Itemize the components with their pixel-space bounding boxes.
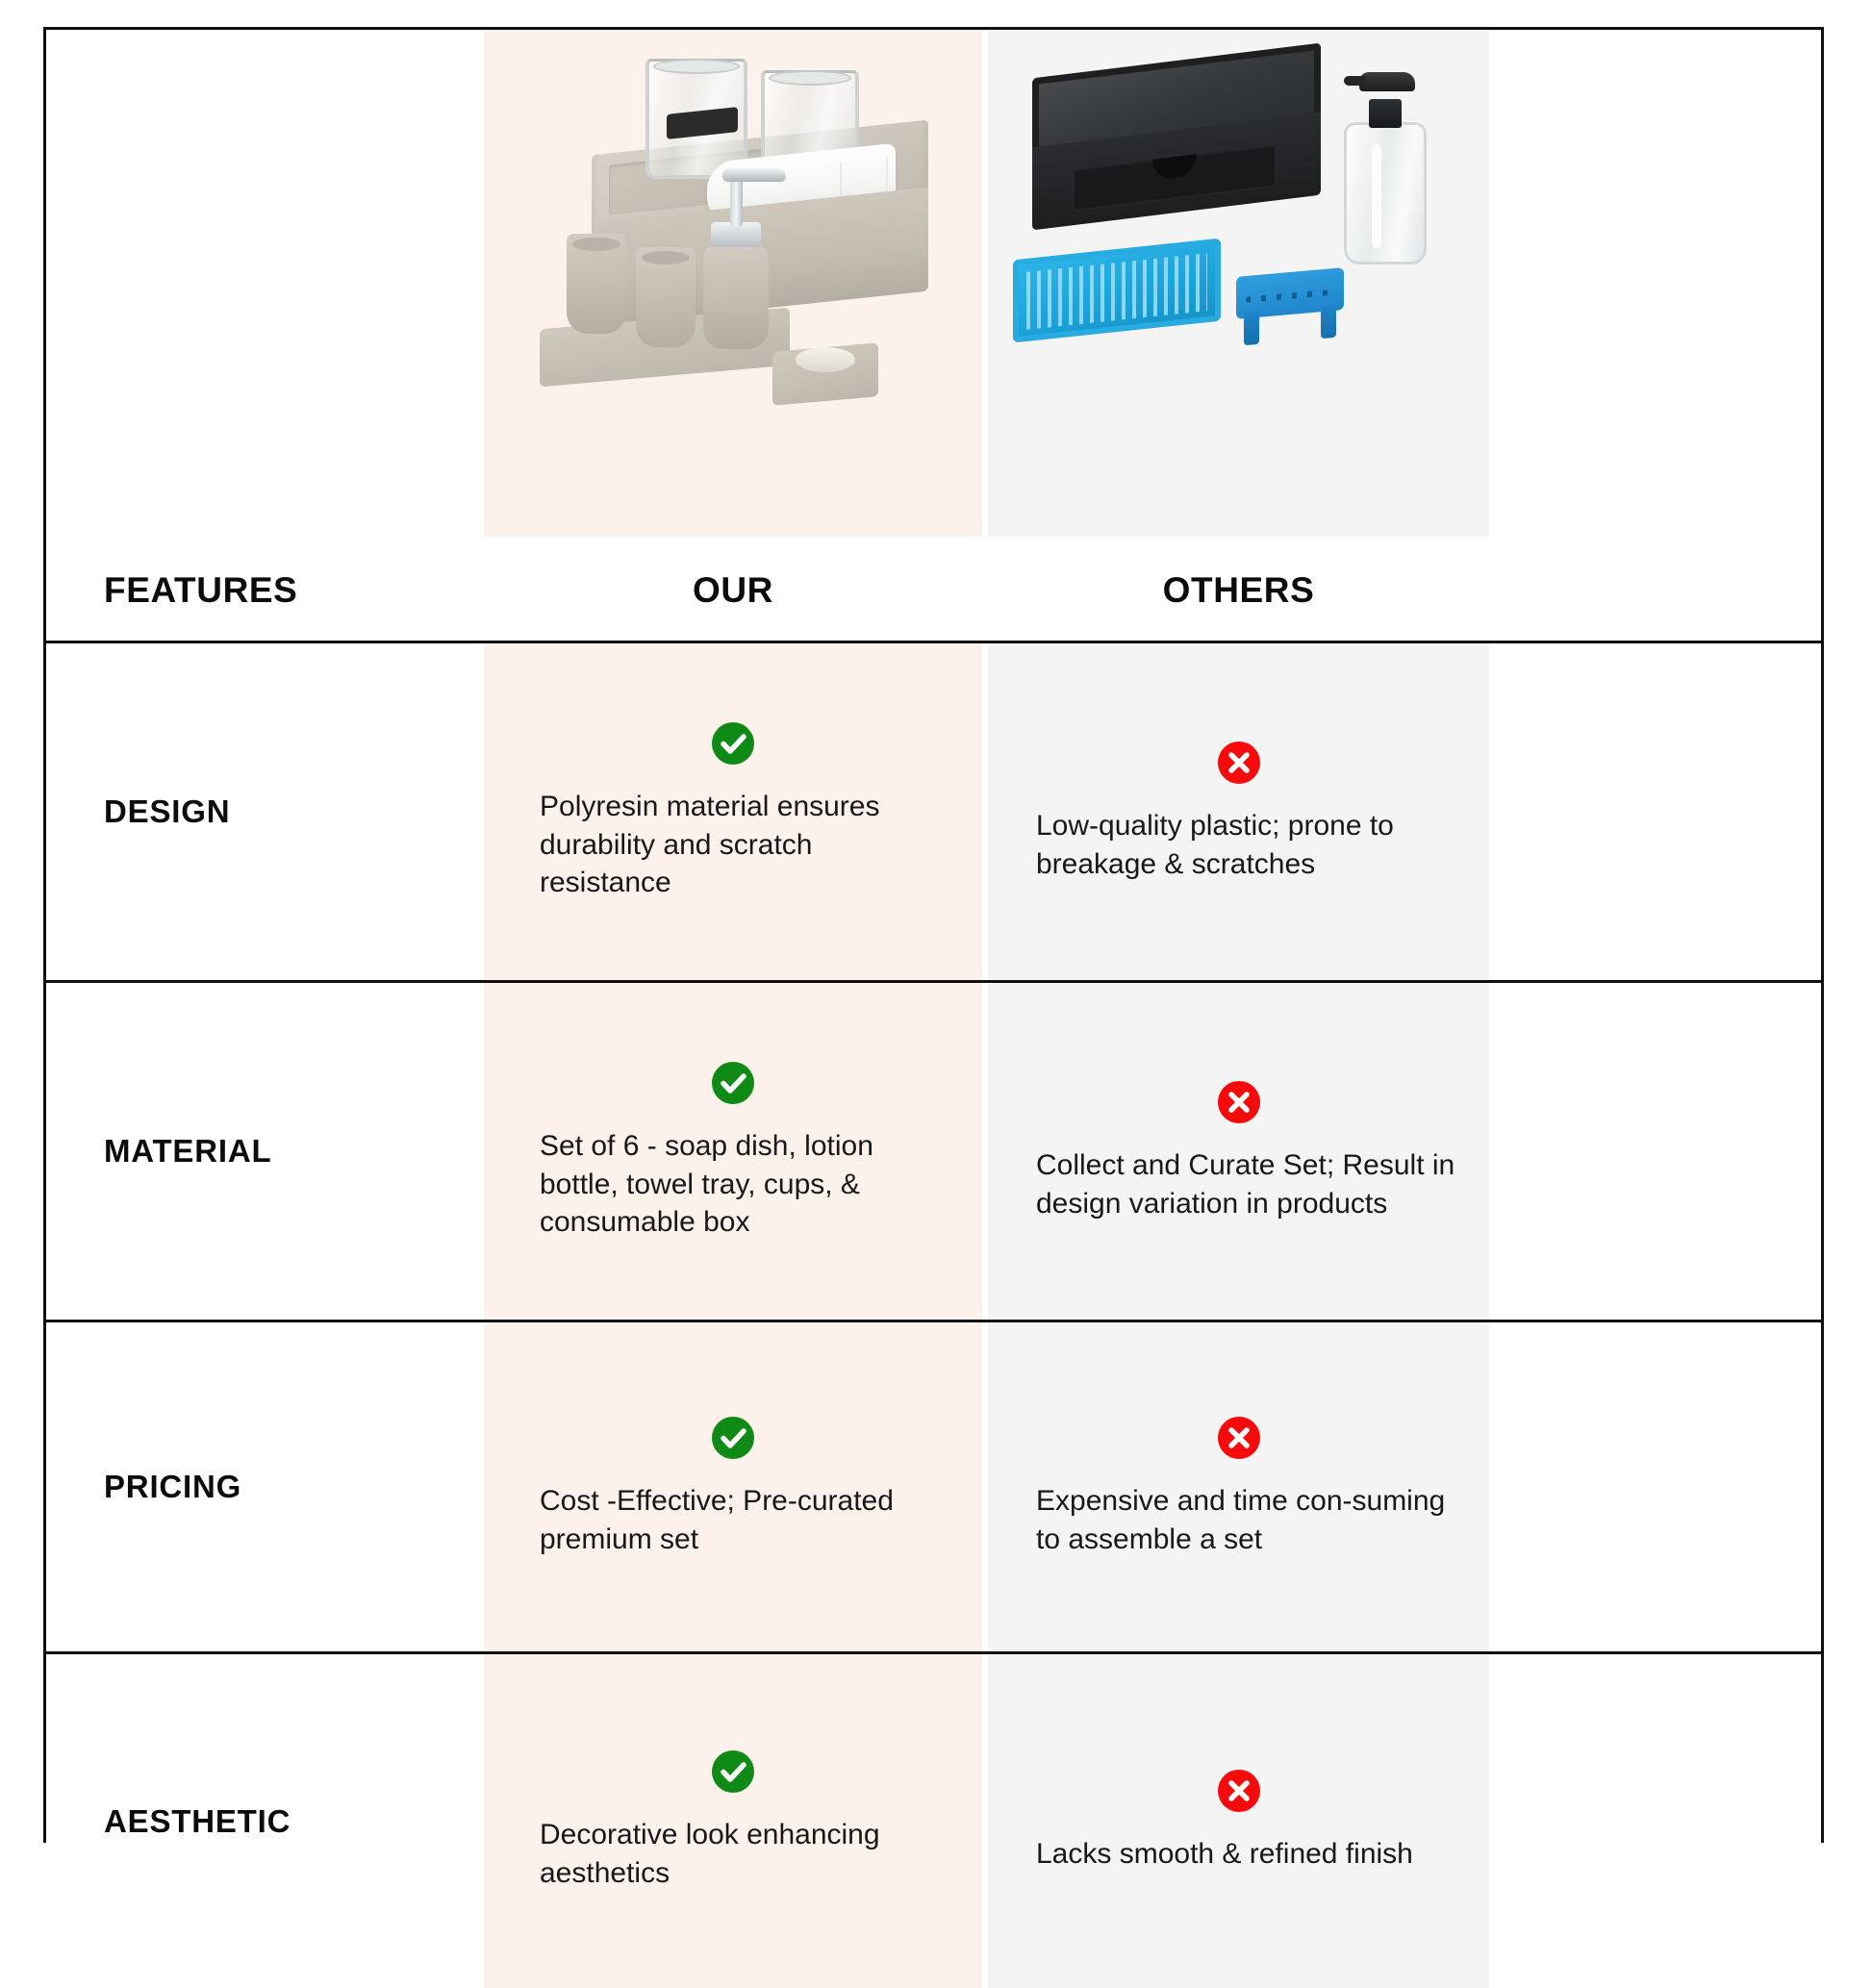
- features-label: FEATURES: [104, 570, 297, 611]
- soap-bar-icon: [796, 347, 855, 372]
- feature-label: AESTHETIC: [104, 1803, 291, 1840]
- others-cell: Expensive and time con-suming to assembl…: [988, 1322, 1489, 1651]
- cross-circle-icon: [1217, 1080, 1261, 1129]
- tumbler-cup-icon: [567, 234, 626, 334]
- others-description: Lacks smooth & refined finish: [1019, 1835, 1413, 1874]
- tumbler-cup-icon: [636, 247, 696, 347]
- pump-stem-icon: [730, 176, 743, 226]
- table-row: PRICING Cost -Effective; Pre-curated pre…: [46, 1322, 1821, 1654]
- feature-label: DESIGN: [104, 793, 230, 830]
- product-media-row: [46, 30, 1821, 537]
- ours-cell: Decorative look enhancing aesthetics: [484, 1654, 982, 1988]
- ours-cell: Polyresin material ensures durability an…: [484, 643, 982, 980]
- check-circle-icon: [711, 1061, 755, 1110]
- cross-circle-icon: [1217, 1416, 1261, 1465]
- plastic-pump-bottle-icon: [1344, 122, 1427, 264]
- column-header-ours: OUR: [484, 537, 982, 643]
- column-header-features: FEATURES: [46, 537, 484, 643]
- others-cell: Low-quality plastic; prone to breakage &…: [988, 643, 1489, 980]
- table-row: MATERIAL Set of 6 - soap dish, lotion bo…: [46, 983, 1821, 1322]
- others-label: OTHERS: [1163, 570, 1315, 611]
- others-cell: Collect and Curate Set; Result in design…: [988, 983, 1489, 1320]
- polyresin-bath-set-illustration: [484, 30, 982, 537]
- comparison-table: FEATURES OUR OTHERS DESIGN: [43, 27, 1824, 1843]
- ours-description: Cost -Effective; Pre-curated premium set: [515, 1482, 951, 1559]
- column-header-others: OTHERS: [988, 537, 1489, 643]
- bottle-neck-icon: [1369, 99, 1402, 128]
- ours-cell: Set of 6 - soap dish, lotion bottle, tow…: [484, 983, 982, 1320]
- cross-circle-icon: [1217, 741, 1261, 790]
- check-circle-icon: [711, 721, 755, 770]
- check-circle-icon: [711, 1749, 755, 1799]
- feature-cell: PRICING: [46, 1322, 484, 1651]
- table-header-row: FEATURES OUR OTHERS: [46, 537, 1821, 643]
- others-description: Low-quality plastic; prone to breakage &…: [1019, 807, 1458, 884]
- feature-cell: AESTHETIC: [46, 1654, 484, 1988]
- others-description: Expensive and time con-suming to assembl…: [1019, 1482, 1458, 1559]
- cross-circle-icon: [1217, 1769, 1261, 1818]
- tray-slots-icon: [1026, 253, 1207, 330]
- ours-description: Set of 6 - soap dish, lotion bottle, tow…: [515, 1127, 951, 1243]
- feature-cell: DESIGN: [46, 643, 484, 980]
- feature-cell: MATERIAL: [46, 983, 484, 1320]
- table-row: AESTHETIC Decorative look enhancing aest…: [46, 1654, 1821, 1988]
- feature-label: PRICING: [104, 1469, 241, 1505]
- feature-label: MATERIAL: [104, 1133, 271, 1170]
- comparison-page: FEATURES OUR OTHERS DESIGN: [0, 0, 1872, 1872]
- ours-description: Decorative look enhancing aesthetics: [515, 1816, 951, 1893]
- check-circle-icon: [711, 1416, 755, 1465]
- ours-description: Polyresin material ensures durability an…: [515, 788, 951, 903]
- others-cell: Lacks smooth & refined finish: [988, 1654, 1489, 1988]
- media-empty-cell: [46, 30, 484, 537]
- others-description: Collect and Curate Set; Result in design…: [1019, 1146, 1458, 1223]
- table-row: DESIGN Polyresin material ensures durabi…: [46, 643, 1821, 983]
- blue-perforated-tray-icon: [1013, 239, 1221, 343]
- ours-product-image: [484, 30, 982, 537]
- ours-label: OUR: [693, 570, 773, 611]
- lotion-dispenser-icon: [703, 243, 769, 349]
- plastic-bath-items-illustration: [988, 30, 1489, 537]
- ours-cell: Cost -Effective; Pre-curated premium set: [484, 1322, 982, 1651]
- others-product-image: [988, 30, 1489, 537]
- bottle-pump-icon: [1359, 72, 1415, 91]
- pump-head-icon: [722, 168, 786, 182]
